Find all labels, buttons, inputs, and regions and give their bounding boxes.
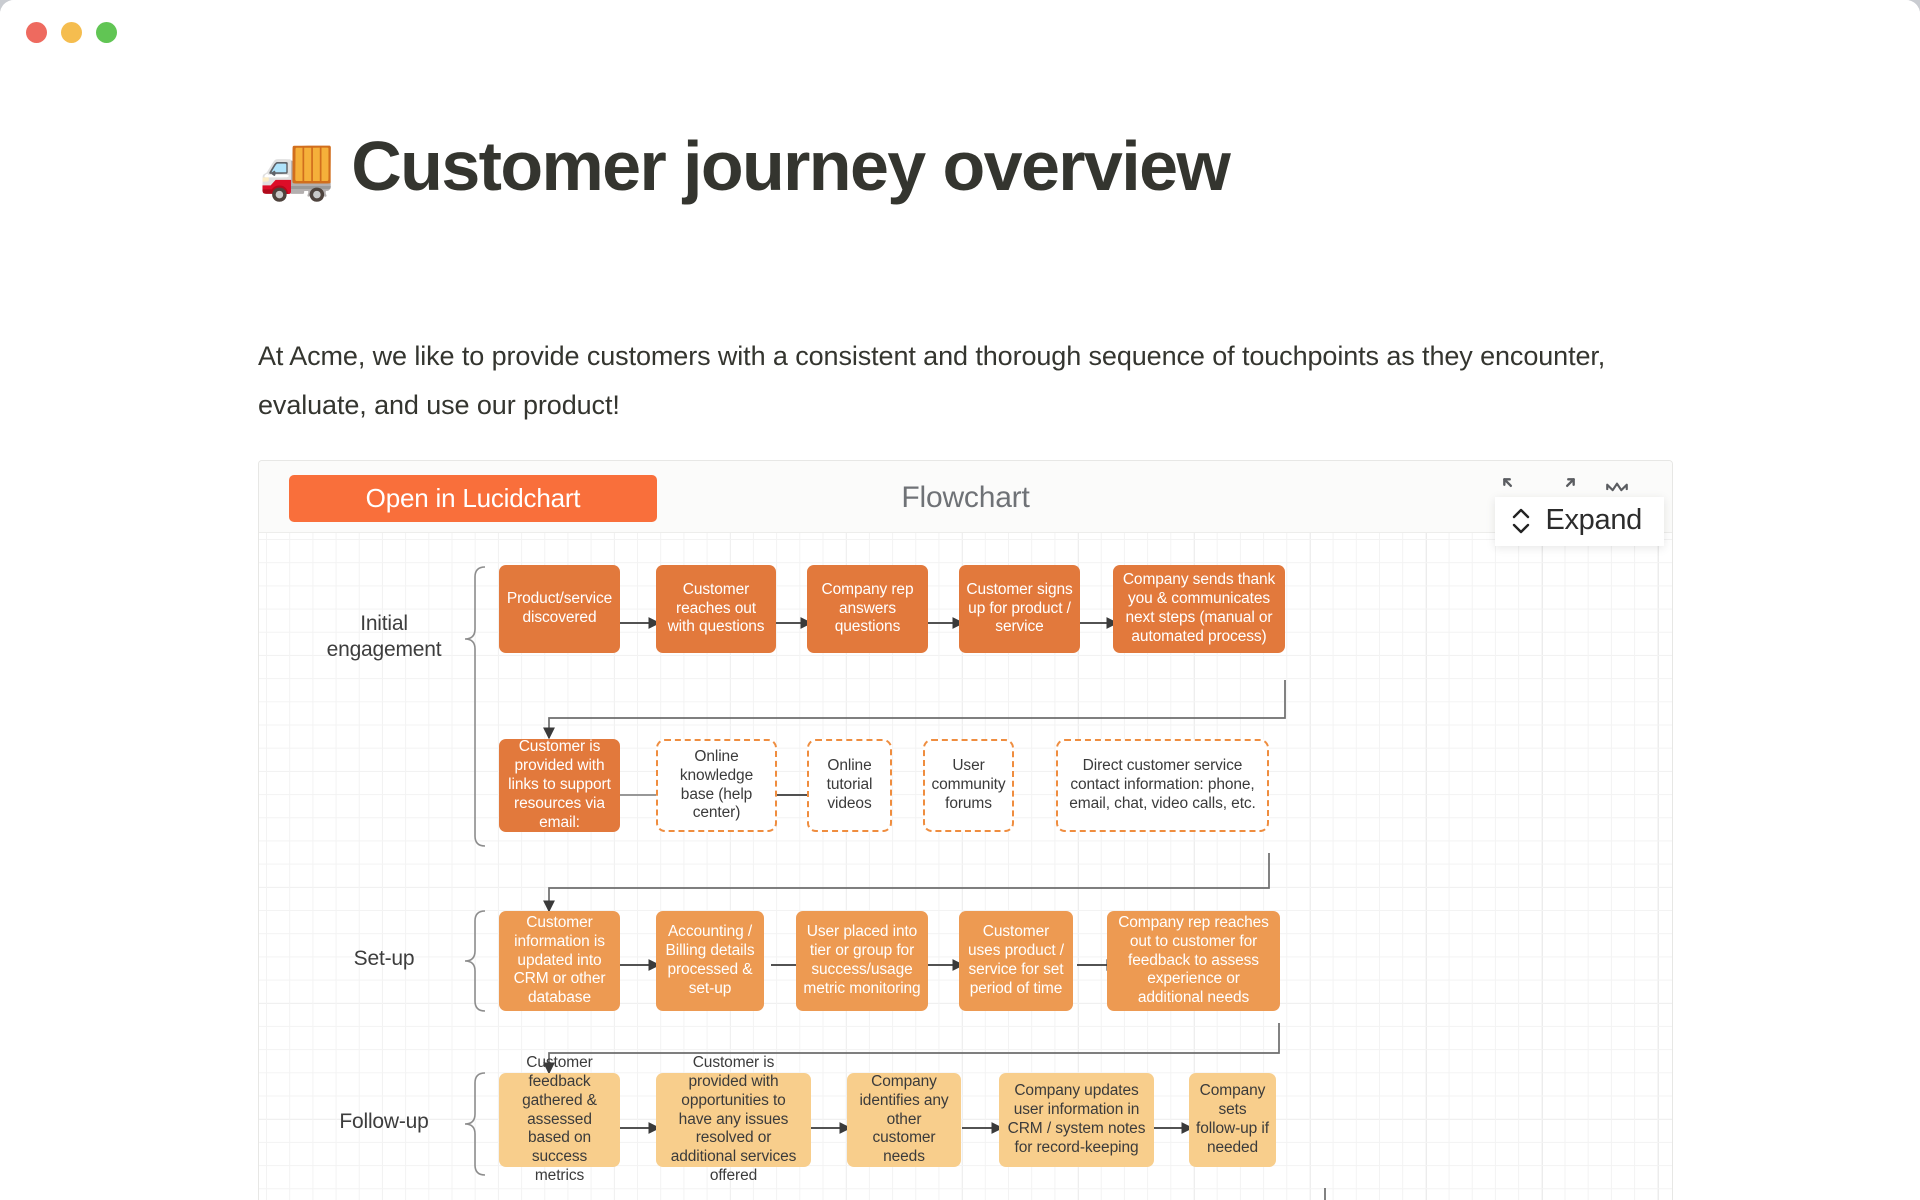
- flow-node[interactable]: Accounting / Billing details processed &…: [656, 911, 764, 1011]
- flow-node[interactable]: Customer is provided with links to suppo…: [499, 739, 620, 832]
- group-label-initial-engagement: Initial engagement: [309, 611, 459, 662]
- flow-node[interactable]: Customer information is updated into CRM…: [499, 911, 620, 1011]
- flow-node[interactable]: User placed into tier or group for succe…: [796, 911, 928, 1011]
- expand-vertical-icon: [1509, 506, 1533, 536]
- truck-icon: 🚚: [258, 138, 335, 200]
- flow-node[interactable]: Product/service discovered: [499, 565, 620, 653]
- group-label-line1: Initial: [309, 611, 459, 637]
- flow-node[interactable]: Company updates user information in CRM …: [999, 1073, 1154, 1167]
- flow-node[interactable]: Company sends thank you & communicates n…: [1113, 565, 1285, 653]
- flow-node[interactable]: Customer feedback gathered & assessed ba…: [499, 1073, 620, 1167]
- flowchart-canvas[interactable]: Initial engagement Set-up Follow-up Prod…: [259, 533, 1672, 1200]
- flow-node[interactable]: Company rep answers questions: [807, 565, 928, 653]
- window-minimize-button[interactable]: [61, 22, 82, 43]
- flow-node[interactable]: Customer uses product / service for set …: [959, 911, 1073, 1011]
- app-window: 🚚 Customer journey overview At Acme, we …: [0, 0, 1920, 1200]
- flow-node[interactable]: Customer reaches out with questions: [656, 565, 776, 653]
- flow-node[interactable]: Customer is provided with opportunities …: [656, 1073, 811, 1167]
- window-titlebar: [0, 0, 1920, 64]
- page-subtitle: At Acme, we like to provide customers wi…: [258, 332, 1658, 430]
- group-label-line2: engagement: [309, 637, 459, 663]
- expand-tooltip-label: Expand: [1545, 504, 1642, 537]
- flow-node[interactable]: Company identifies any other customer ne…: [847, 1073, 961, 1167]
- lucidchart-embed: Open in Lucidchart Flowchart: [258, 460, 1673, 1200]
- group-label-setup: Set-up: [309, 946, 459, 972]
- expand-tooltip[interactable]: Expand: [1495, 497, 1664, 546]
- flow-node[interactable]: Company rep reaches out to customer for …: [1107, 911, 1280, 1011]
- group-label-followup: Follow-up: [309, 1109, 459, 1135]
- flow-node-optional[interactable]: Direct customer service contact informat…: [1056, 739, 1269, 832]
- flow-node-optional[interactable]: User community forums: [923, 739, 1014, 832]
- flow-node[interactable]: Customer signs up for product / service: [959, 565, 1080, 653]
- document-body: 🚚 Customer journey overview At Acme, we …: [0, 64, 1920, 1200]
- flow-node[interactable]: Company sets follow-up if needed: [1189, 1073, 1276, 1167]
- flow-node-optional[interactable]: Online tutorial videos: [807, 739, 892, 832]
- embed-title: Flowchart: [259, 481, 1672, 515]
- flow-node-optional[interactable]: Online knowledge base (help center): [656, 739, 777, 832]
- window-close-button[interactable]: [26, 22, 47, 43]
- page-title: 🚚 Customer journey overview: [258, 130, 1229, 204]
- embed-toolbar: Open in Lucidchart Flowchart: [259, 461, 1672, 533]
- page-title-text: Customer journey overview: [351, 130, 1229, 204]
- window-maximize-button[interactable]: [96, 22, 117, 43]
